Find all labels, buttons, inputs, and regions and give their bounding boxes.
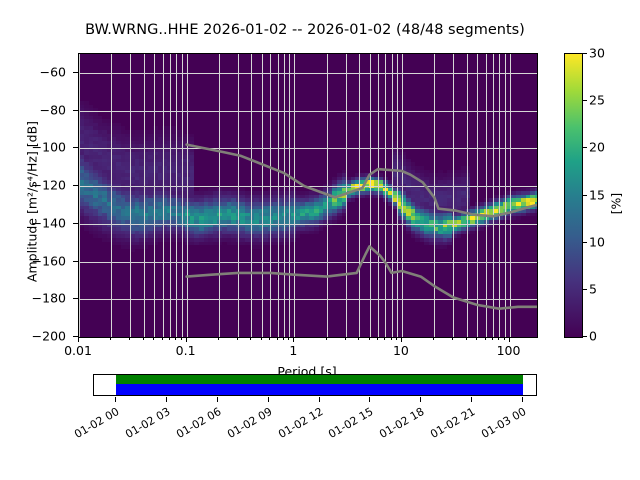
x-axis-tick: [78, 337, 79, 342]
x-axis-tick: [326, 337, 327, 340]
y-axis-tick: [73, 185, 78, 186]
x-axis-tick: [452, 337, 453, 340]
x-axis-tick: [143, 337, 144, 340]
x-axis-tick: [277, 337, 278, 340]
ppsd-plot-area: [78, 53, 538, 338]
y-axis-tick: [73, 298, 78, 299]
noise-model-curves: [79, 54, 537, 337]
x-axis-tick: [293, 337, 294, 342]
x-axis-tick-label: 0.01: [64, 343, 92, 358]
x-axis-tick: [181, 337, 182, 340]
colorbar-tick-label: 20: [589, 140, 605, 155]
ppsd-figure: BW.WRNG..HHE 2026-01-02 -- 2026-01-02 (4…: [0, 0, 640, 480]
colorbar-tick: [582, 336, 587, 337]
timeline-tick-label: 01-02 15: [317, 405, 375, 446]
timeline-tick-label: 01-02 09: [216, 405, 274, 446]
timeline-tick: [319, 397, 320, 402]
timeline-tick-label: 01-02 12: [267, 405, 325, 446]
timeline-band-green: [116, 375, 523, 384]
x-axis-tick: [110, 337, 111, 340]
x-axis-tick: [466, 337, 467, 340]
x-axis-tick: [476, 337, 477, 340]
colorbar-tick: [582, 147, 587, 148]
timeline-tick-label: 01-02 18: [368, 405, 426, 446]
x-axis-tick: [237, 337, 238, 340]
colorbar-tick: [582, 195, 587, 196]
colorbar-tick: [582, 242, 587, 243]
colorbar-tick-label: 5: [589, 281, 597, 296]
x-axis-tick: [509, 337, 510, 342]
x-axis-tick: [175, 337, 176, 340]
x-axis-tick: [391, 337, 392, 340]
colorbar-tick: [582, 100, 587, 101]
x-axis-tick: [377, 337, 378, 340]
x-axis-tick-label: 0.1: [176, 343, 196, 358]
y-axis-tick: [73, 223, 78, 224]
y-axis-tick: [73, 110, 78, 111]
x-axis-tick: [129, 337, 130, 340]
timeline-tick-label: 01-02 03: [114, 405, 172, 446]
colorbar-tick-label: 25: [589, 93, 605, 108]
x-axis-tick: [186, 337, 187, 342]
timeline-tick-label: 01-03 00: [470, 405, 528, 446]
colorbar-title: [%]: [609, 144, 624, 264]
x-axis-tick: [261, 337, 262, 340]
timeline-tick-label: 01-02 00: [63, 405, 121, 446]
coverage-timeline[interactable]: [93, 374, 537, 396]
colorbar-tick-label: 30: [589, 46, 605, 61]
x-axis-tick: [498, 337, 499, 340]
x-axis-tick: [153, 337, 154, 340]
x-axis-tick-label: 1: [289, 343, 297, 358]
y-axis-tick: [73, 72, 78, 73]
colorbar-tick-label: 0: [589, 329, 597, 344]
x-axis-tick: [269, 337, 270, 340]
x-axis-tick: [401, 337, 402, 342]
x-axis-tick: [485, 337, 486, 340]
x-axis-tick: [250, 337, 251, 340]
x-axis-tick: [433, 337, 434, 340]
x-axis-tick: [396, 337, 397, 340]
colorbar-tick-label: 10: [589, 234, 605, 249]
x-axis-tick: [384, 337, 385, 340]
colorbar-tick-label: 15: [589, 187, 605, 202]
timeline-tick: [115, 397, 116, 402]
y-axis-tick: [73, 261, 78, 262]
x-axis-tick: [288, 337, 289, 340]
y-axis-tick: [73, 147, 78, 148]
figure-title: BW.WRNG..HHE 2026-01-02 -- 2026-01-02 (4…: [0, 22, 610, 38]
timeline-tick: [268, 397, 269, 402]
y-axis-title-text: Amplitude [m²/s⁴/Hz] [dB]: [25, 121, 40, 282]
x-axis-tick: [283, 337, 284, 340]
x-axis-tick: [358, 337, 359, 340]
x-axis-tick: [504, 337, 505, 340]
timeline-tick: [166, 397, 167, 402]
y-axis-title: Amplitude [m²/s⁴/Hz] [dB]: [25, 72, 40, 332]
timeline-tick: [522, 397, 523, 402]
x-axis-tick: [169, 337, 170, 340]
low-noise-model-curve: [187, 246, 537, 308]
colorbar-tick: [582, 289, 587, 290]
x-axis-tick: [369, 337, 370, 340]
timeline-tick: [217, 397, 218, 402]
timeline-tick: [471, 397, 472, 402]
x-axis-tick-label: 10: [393, 343, 409, 358]
high-noise-model-curve: [187, 145, 537, 217]
x-axis-tick-label: 100: [497, 343, 521, 358]
colorbar: [564, 53, 583, 338]
colorbar-tick: [582, 53, 587, 54]
x-axis-tick: [162, 337, 163, 340]
x-axis-tick: [345, 337, 346, 340]
x-axis-tick: [218, 337, 219, 340]
timeline-tick: [420, 397, 421, 402]
gridline-horizontal: [79, 337, 537, 338]
timeline-tick-label: 01-02 21: [419, 405, 477, 446]
timeline-tick: [369, 397, 370, 402]
timeline-band-blue: [116, 384, 523, 395]
timeline-tick-label: 01-02 06: [165, 405, 223, 446]
x-axis-tick: [492, 337, 493, 340]
